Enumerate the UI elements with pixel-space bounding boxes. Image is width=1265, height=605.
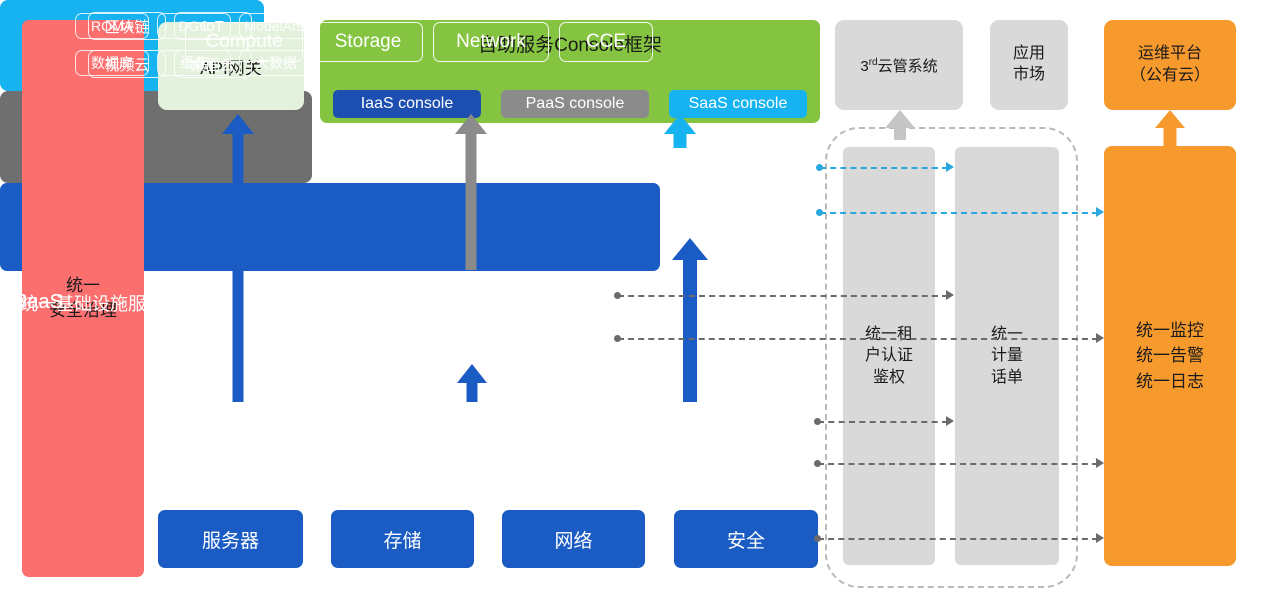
unified-monitoring-alarm-log-column: 统一监控 统一告警 统一日志: [1104, 146, 1236, 566]
connector-arrowhead-saas-auth: [946, 162, 954, 172]
arrow-paas-to-console: [455, 114, 487, 270]
ops-platform-line-1: 运维平台: [1130, 43, 1210, 65]
infra-service-compute[interactable]: Compute: [185, 22, 303, 62]
ops-platform-public-cloud-block: 运维平台 （公有云）: [1104, 20, 1236, 110]
arrow-infra-to-api-gateway: [222, 114, 254, 402]
connector-arrowhead-infra-ops: [1096, 458, 1104, 468]
connector-arrowhead-paas-ops: [1096, 333, 1104, 343]
arrow-infra-to-saas: [672, 238, 708, 402]
billing-line-2: 计量: [991, 345, 1023, 367]
third-party-cloud-management-block: 3rd云管系统: [835, 20, 963, 110]
resource-security: 安全: [674, 510, 818, 568]
billing-line-1: 统一: [991, 324, 1023, 346]
ops-col-line-3: 统一日志: [1136, 369, 1204, 395]
ops-platform-line-2: （公有云）: [1130, 65, 1210, 87]
resource-server: 服务器: [158, 510, 303, 568]
infra-service-network[interactable]: Network: [433, 22, 549, 62]
auth-line-2: 户认证: [865, 345, 913, 367]
connector-saas-to-auth: [820, 167, 948, 169]
connector-arrowhead-infra-auth: [946, 416, 954, 426]
connector-arrowhead-paas-auth: [946, 290, 954, 300]
arrow-infra-to-paas: [457, 364, 487, 402]
unified-infrastructure-service-block: 统一基础设施服务 Compute Storage Network CCE: [0, 183, 660, 271]
app-market-line-1: 应用: [1013, 44, 1045, 65]
auth-line-3: 鉴权: [865, 367, 913, 389]
arrow-saas-to-console: [664, 114, 696, 148]
arrow-capsule-to-third-party-cloud: [885, 110, 915, 140]
paas-console-pill[interactable]: PaaS console: [501, 90, 649, 118]
arrow-ops-column-to-ops-platform: [1155, 110, 1185, 148]
third-party-label: 3rd云管系统: [860, 55, 937, 76]
architecture-diagram: 统一 安全治理 API网关 自助服务Console框架 IaaS console…: [0, 0, 1265, 605]
connector-infra-to-auth: [818, 421, 948, 423]
connector-arrowhead-security-ops: [1096, 533, 1104, 543]
app-market-line-2: 市场: [1013, 65, 1045, 86]
connector-arrowhead-saas-ops: [1096, 207, 1104, 217]
connector-infra-to-ops: [818, 463, 1098, 465]
connector-saas-to-ops: [820, 212, 1098, 214]
auth-line-1: 统一租: [865, 324, 913, 346]
ops-col-line-2: 统一告警: [1136, 343, 1204, 369]
infra-service-storage[interactable]: Storage: [313, 22, 423, 62]
resource-network: 网络: [502, 510, 645, 568]
resource-storage: 存储: [331, 510, 474, 568]
app-market-block: 应用 市场: [990, 20, 1068, 110]
infra-service-cce[interactable]: CCE: [559, 22, 653, 62]
connector-security-to-ops: [818, 538, 1098, 540]
connector-paas-to-ops: [618, 338, 1098, 340]
ops-col-line-1: 统一监控: [1136, 318, 1204, 344]
unified-tenant-auth-column: 统一租 户认证 鉴权: [843, 147, 935, 565]
connector-paas-to-auth: [618, 295, 948, 297]
billing-line-3: 话单: [991, 367, 1023, 389]
infra-label: 统一基础设施服务: [20, 0, 164, 605]
unified-metering-billing-column: 统一 计量 话单: [955, 147, 1059, 565]
